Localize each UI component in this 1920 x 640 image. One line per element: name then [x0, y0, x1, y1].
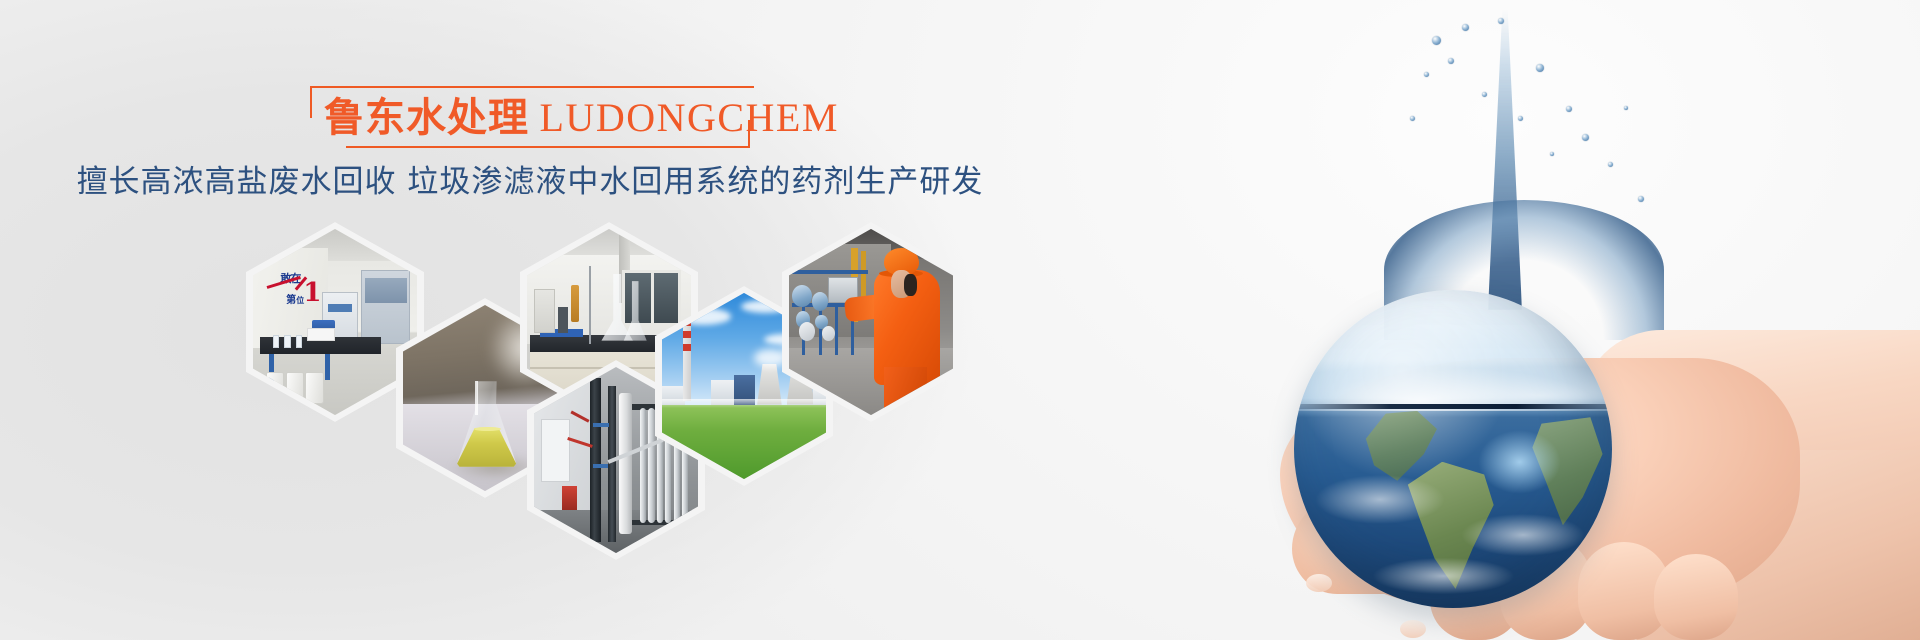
- wall-slogan-mid: 第: [286, 291, 296, 306]
- hands: [1280, 300, 1900, 640]
- headline-block: 鲁东水处理 LUDONGCHEM 擅长高浓高盐废水回收 垃圾渗滤液中水回用系统的…: [0, 86, 1060, 202]
- hands-holding-water-globe: [1220, 0, 1920, 640]
- wall-slogan-number: 1: [303, 280, 321, 306]
- page-title: 鲁东水处理 LUDONGCHEM: [324, 96, 736, 140]
- water-globe: [1294, 290, 1612, 608]
- tagline: 擅长高浓高盐废水回收 垃圾渗滤液中水回用系统的药剂生产研发: [0, 162, 1060, 202]
- brand-title-en: LUDONGCHEM: [540, 95, 839, 140]
- brand-title-frame: 鲁东水处理 LUDONGCHEM: [310, 86, 750, 148]
- wall-slogan: 敢在 第 1 位: [264, 270, 336, 311]
- wall-slogan-suffix: 位: [296, 295, 304, 306]
- hero-banner: 敢在 第 1 位: [0, 0, 1920, 640]
- brand-title-cn: 鲁东水处理: [324, 95, 529, 140]
- water-splash: [1370, 10, 1670, 340]
